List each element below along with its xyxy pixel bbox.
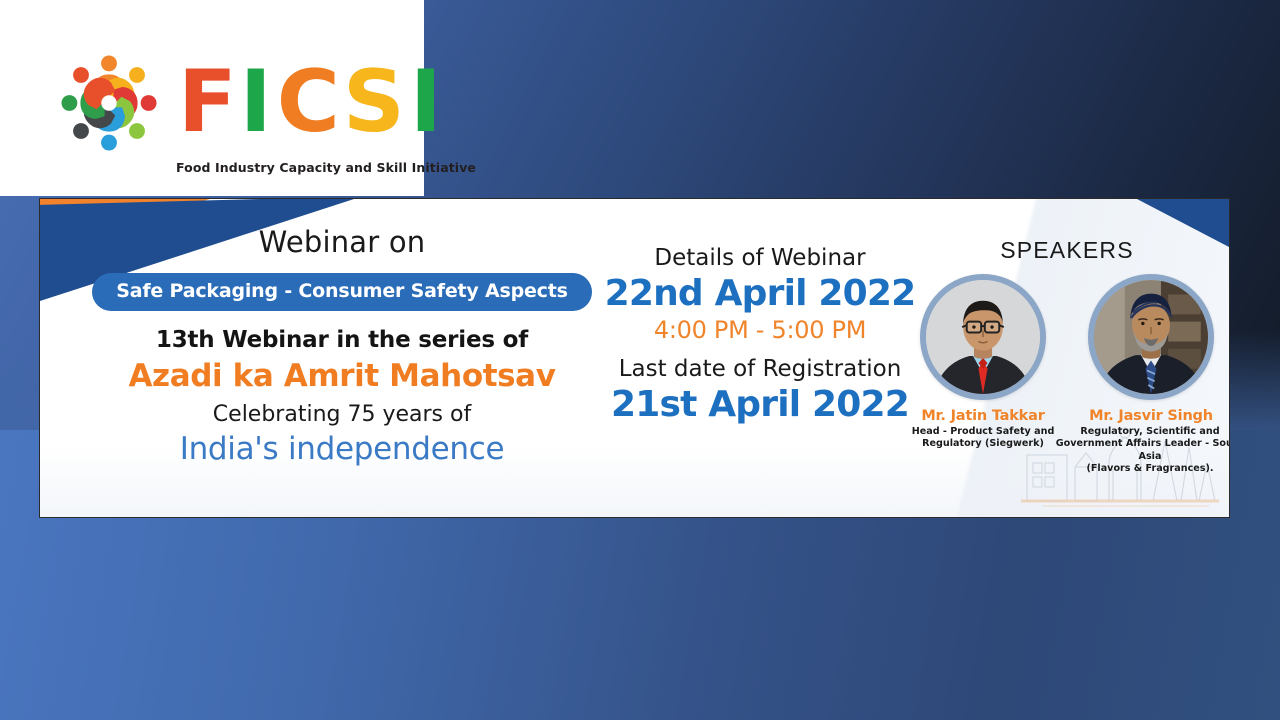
speaker-portrait-jasvir-singh	[1088, 274, 1214, 400]
webinar-independence-line: India's independence	[92, 431, 592, 467]
circle-of-people-icon	[54, 48, 164, 158]
speaker-card: Mr. Jatin Takkar Head - Product Safety a…	[907, 274, 1059, 475]
logo-letter-s: S	[343, 62, 404, 144]
webinar-time: 4:00 PM - 5:00 PM	[600, 316, 920, 344]
logo-panel: F I C S I Food Industry Capacity and Ski…	[0, 0, 424, 196]
logo-tagline: Food Industry Capacity and Skill Initiat…	[176, 160, 476, 175]
webinar-details-column: Details of Webinar 22nd April 2022 4:00 …	[600, 245, 920, 425]
logo-letter-i2: I	[410, 62, 441, 144]
details-label: Details of Webinar	[600, 245, 920, 271]
speaker-name: Mr. Jasvir Singh	[1075, 408, 1227, 424]
ficsi-logo: F I C S I Food Industry Capacity and Ski…	[54, 48, 476, 175]
poster-stage: F I C S I Food Industry Capacity and Ski…	[0, 0, 1280, 720]
webinar-left-column: Webinar on Safe Packaging - Consumer Saf…	[92, 225, 592, 467]
speaker-role: Regulatory, Scientific and Government Af…	[1055, 426, 1229, 475]
speaker-role-line: Government Affairs Leader - South Asia	[1055, 438, 1229, 463]
webinar-series-title: Azadi ka Amrit Mahotsav	[92, 358, 592, 394]
webinar-celebrating-line: Celebrating 75 years of	[92, 402, 592, 427]
speaker-card: Mr. Jasvir Singh Regulatory, Scientific …	[1075, 274, 1227, 475]
speakers-column: SPEAKERS	[902, 237, 1229, 475]
webinar-date: 22nd April 2022	[600, 273, 920, 314]
speaker-role-line: Regulatory, Scientific and	[1055, 426, 1229, 438]
webinar-heading: Webinar on	[92, 225, 592, 259]
logo-letter-i1: I	[240, 62, 271, 144]
logo-letter-c: C	[277, 62, 339, 144]
speakers-title: SPEAKERS	[902, 237, 1229, 264]
logo-letter-f: F	[178, 62, 236, 144]
ficsi-wordmark: F I C S I	[178, 62, 441, 144]
registration-date: 21st April 2022	[600, 384, 920, 425]
speaker-role-line: Head - Product Safety and	[907, 426, 1059, 438]
webinar-banner: Webinar on Safe Packaging - Consumer Saf…	[39, 198, 1230, 518]
speaker-name: Mr. Jatin Takkar	[907, 408, 1059, 424]
webinar-series-line: 13th Webinar in the series of	[92, 327, 592, 353]
speakers-row: Mr. Jatin Takkar Head - Product Safety a…	[902, 274, 1229, 475]
speaker-portrait-jatin-takkar	[920, 274, 1046, 400]
speaker-role-line: (Flavors & Fragrances).	[1055, 463, 1229, 475]
registration-label: Last date of Registration	[600, 356, 920, 382]
speaker-role: Head - Product Safety and Regulatory (Si…	[907, 426, 1059, 451]
speaker-role-line: Regulatory (Siegwerk)	[907, 438, 1059, 450]
webinar-topic-pill: Safe Packaging - Consumer Safety Aspects	[92, 273, 592, 311]
